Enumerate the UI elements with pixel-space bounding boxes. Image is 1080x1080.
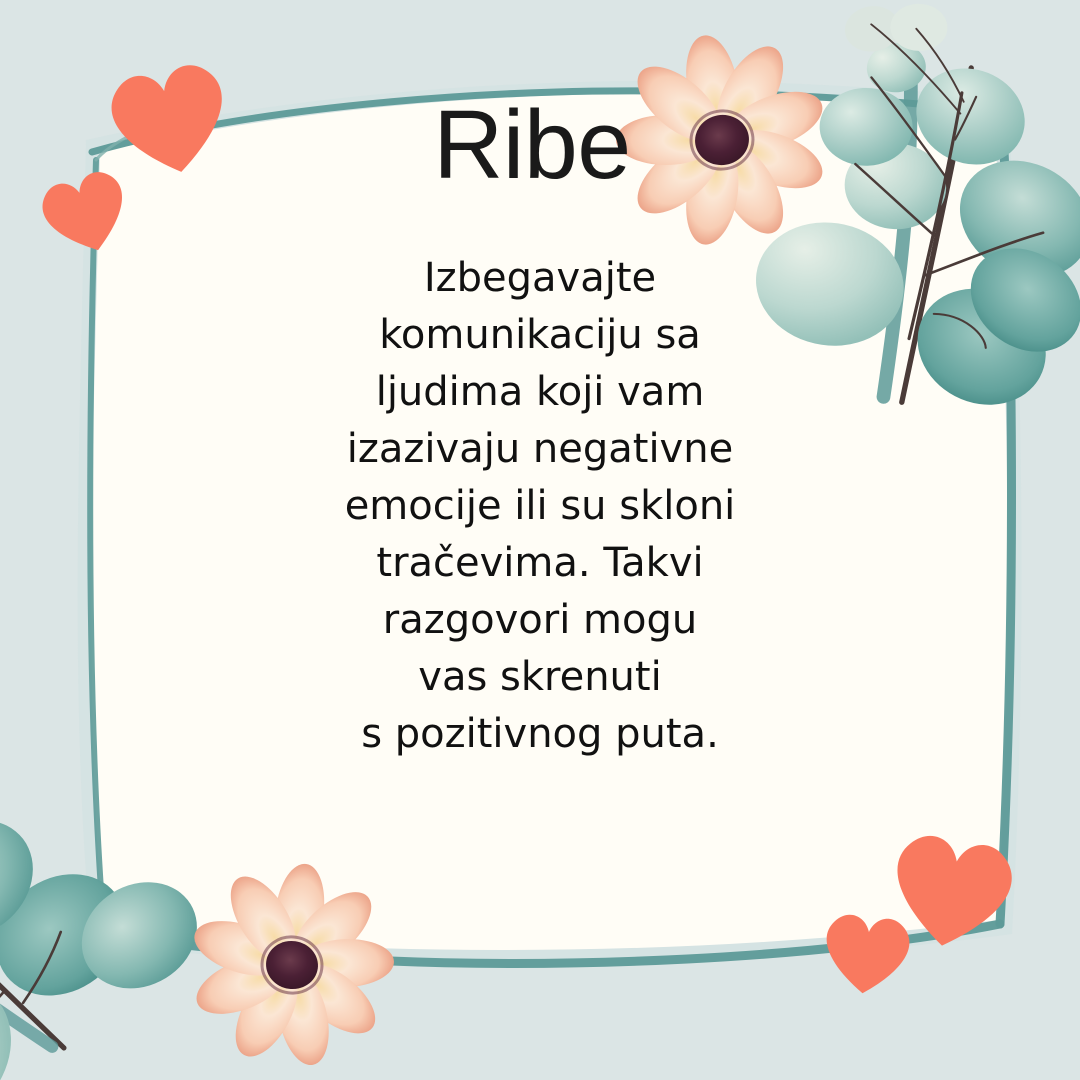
- heart-bottom-right-small: [821, 913, 911, 998]
- heart-top-left-large: [106, 60, 236, 184]
- heart-top-left-small: [36, 166, 136, 262]
- botanical-decorations: [0, 0, 1080, 1080]
- poster-card: Ribe Izbegavajte komunikaciju sa ljudima…: [0, 0, 1080, 1080]
- eucalyptus-bottom-left: [0, 634, 242, 1080]
- flower-bottom-left: [174, 849, 410, 1080]
